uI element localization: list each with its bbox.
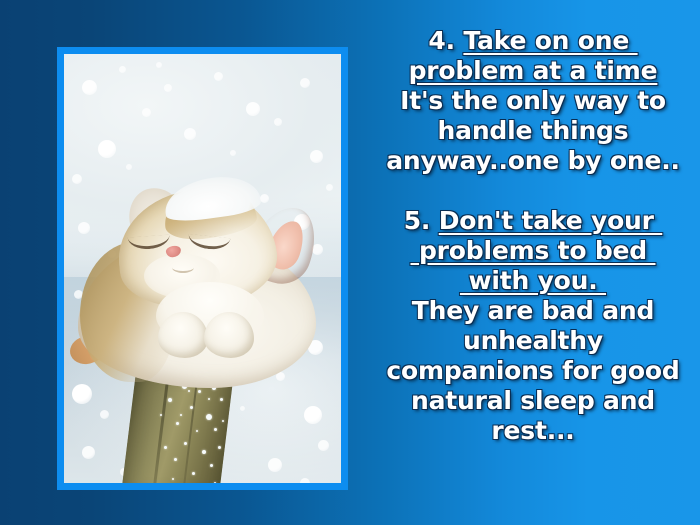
block-5-heading-line-1: 5. Don't take your: [368, 206, 698, 236]
block-4-heading-line-2: problem at a time: [368, 56, 698, 86]
cat-mouth: [172, 262, 194, 273]
photo-image: [64, 54, 341, 483]
block-5-heading-line-2: problems to bed: [368, 236, 698, 266]
block-5-body-line-4: natural sleep and: [368, 386, 698, 416]
text-block-4: 4. Take on one problem at a time It's th…: [368, 26, 698, 176]
block-5-heading-part-3: with you.: [460, 266, 606, 295]
block-5-body-line-1: They are bad and: [368, 296, 698, 326]
block-5-body-line-2: unhealthy: [368, 326, 698, 356]
block-4-heading-part-2: problem at a time: [409, 56, 658, 85]
block-5-heading-part-2: problems to bed: [410, 236, 655, 265]
slide: 4. Take on one problem at a time It's th…: [0, 0, 700, 525]
cat-right-paw: [204, 312, 254, 358]
text-block-5: 5. Don't take your problems to bed with …: [368, 206, 698, 446]
cat-illustration: [72, 184, 328, 389]
block-separator: [368, 176, 698, 206]
block-5-body-line-5: rest...: [368, 416, 698, 446]
block-4-body-line-2: handle things: [368, 116, 698, 146]
block-4-heading-line-1: 4. Take on one: [368, 26, 698, 56]
block-5-body-line-3: companions for good: [368, 356, 698, 386]
quote-text-column: 4. Take on one problem at a time It's th…: [368, 26, 698, 446]
photo-frame: [57, 47, 348, 490]
cat-left-paw: [158, 312, 208, 358]
block-4-body-line-3: anyway..one by one..: [368, 146, 698, 176]
block-4-heading-part-1: Take on one: [463, 26, 637, 55]
block-4-body-line-1: It's the only way to: [368, 86, 698, 116]
block-5-number: 5.: [404, 206, 431, 235]
block-5-heading-line-3: with you.: [368, 266, 698, 296]
block-4-number: 4.: [428, 26, 455, 55]
block-5-heading-part-1: Don't take your: [439, 206, 663, 235]
